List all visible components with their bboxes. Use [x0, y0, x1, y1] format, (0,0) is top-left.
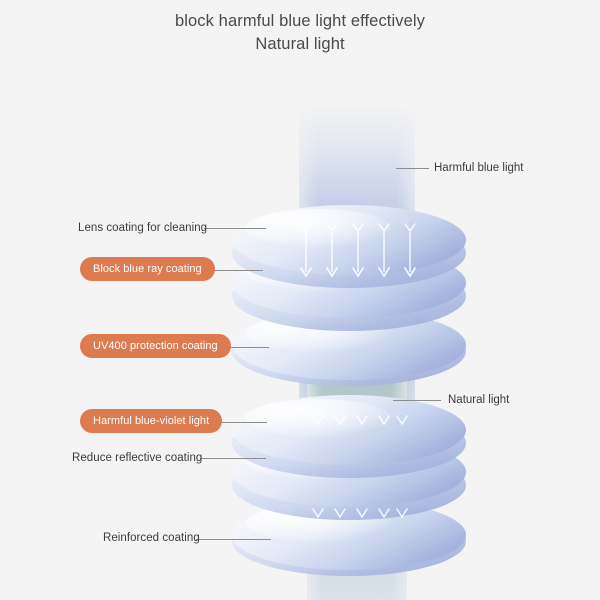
ray-group-top: [306, 118, 410, 228]
light-rays: [0, 0, 600, 600]
label-reduce-reflective-coating: Reduce reflective coating: [72, 452, 202, 464]
lens-disc-1-top: [232, 205, 466, 275]
lens-disc-3: [232, 310, 466, 380]
lens-disc-4-top: [232, 395, 466, 465]
lens-disc-5-top: [232, 437, 466, 507]
harmful-blue-light-beam: [299, 104, 415, 404]
natural-light-beam: [307, 330, 407, 600]
label-lens-coating-for-cleaning: Lens coating for cleaning: [78, 222, 207, 234]
lens-disc-4-rim: [232, 408, 466, 478]
ray-group-second: [306, 232, 410, 272]
lens-disc-5-rim: [232, 450, 466, 520]
leader-reinforced-coating: [196, 539, 271, 540]
lens-disc-2-highlight: [246, 252, 391, 291]
lens-disc-3-rim: [232, 316, 466, 386]
lens-disc-3-top: [232, 310, 466, 380]
leader-lens-coating-for-cleaning: [204, 228, 266, 229]
lens-disc-6-top: [232, 500, 466, 570]
lens-disc-2-top: [232, 248, 466, 318]
page-title: block harmful blue light effectively Nat…: [0, 10, 600, 56]
lens-disc-4: [232, 395, 466, 465]
lens-disc-1-highlight: [246, 209, 391, 248]
ray-chevrons-lower: [313, 509, 407, 517]
title-line-2: Natural light: [0, 33, 600, 56]
lens-disc-1: [232, 205, 466, 275]
lens-disc-2-rim: [232, 261, 466, 331]
light-rays-lower: [0, 0, 600, 600]
label-block-blue-ray-coating: Block blue ray coating: [80, 257, 215, 281]
label-reinforced-coating: Reinforced coating: [103, 532, 200, 544]
diagram-canvas: block harmful blue light effectively Nat…: [0, 0, 600, 600]
label-harmful-blue-light: Harmful blue light: [434, 162, 523, 174]
ray-group-narrow: [315, 330, 404, 600]
lens-disc-4-highlight: [246, 399, 391, 438]
lens-disc-6-rim: [232, 506, 466, 576]
ray-chevrons-middle: [313, 416, 407, 424]
lens-disc-2: [232, 248, 466, 318]
lens-disc-6-highlight: [246, 504, 391, 543]
lens-disc-6: [232, 500, 466, 570]
beam-edge-falloff-lower: [307, 330, 407, 600]
ray-arrowheads-top: [301, 224, 415, 231]
ray-arrowheads-second: [301, 268, 415, 276]
label-harmful-blue-violet-light: Harmful blue-violet light: [80, 409, 222, 433]
lens-disc-5-highlight: [246, 441, 391, 480]
beam-edge-falloff: [299, 104, 415, 404]
leader-natural-light: [393, 400, 441, 401]
title-line-1: block harmful blue light effectively: [0, 10, 600, 33]
leader-reduce-reflective-coating: [200, 458, 266, 459]
label-natural-light: Natural light: [448, 394, 509, 406]
leader-harmful-blue-light: [396, 168, 429, 169]
label-uv400-protection-coating: UV400 protection coating: [80, 334, 231, 358]
lens-disc-1-rim: [232, 218, 466, 288]
lens-disc-5: [232, 437, 466, 507]
